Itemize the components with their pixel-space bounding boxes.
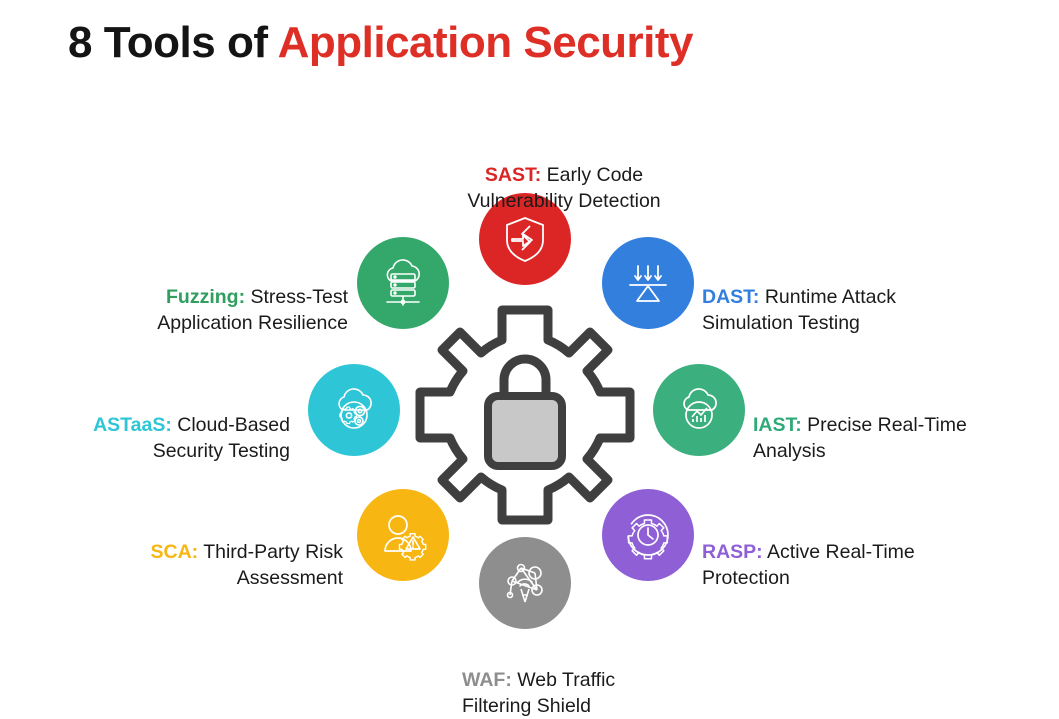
gear-clock-icon <box>622 509 674 561</box>
label-waf-lead: WAF: <box>462 669 512 691</box>
user-gear-warning-icon <box>377 509 429 561</box>
center-gear-lock <box>406 296 644 534</box>
label-sast-lead: SAST: <box>485 164 541 186</box>
label-sca-lead: SCA: <box>150 541 198 563</box>
node-sca[interactable] <box>357 489 449 581</box>
node-iast[interactable] <box>653 364 745 456</box>
label-fuzzing-lead: Fuzzing: <box>166 286 245 308</box>
label-astaas-text: Cloud-Based Security Testing <box>153 414 290 462</box>
application-security-tools-diagram: SAST: Early Code Vulnerability Detection… <box>0 0 1059 703</box>
label-sca: SCA: Third-Party Risk Assessment <box>58 513 343 591</box>
cloud-gears-icon <box>328 384 380 436</box>
label-sast: SAST: Early Code Vulnerability Detection <box>404 136 724 214</box>
load-arrows-triangle-icon <box>623 258 673 308</box>
shield-arrow-icon <box>500 214 550 264</box>
gear-outline-icon <box>406 296 644 534</box>
node-dast[interactable] <box>602 237 694 329</box>
network-antenna-icon <box>499 557 551 609</box>
label-rasp-lead: RASP: <box>702 541 763 563</box>
label-iast: IAST: Precise Real-Time Analysis <box>753 386 1043 464</box>
node-fuzzing[interactable] <box>357 237 449 329</box>
cloud-server-icon <box>377 257 429 309</box>
node-waf[interactable] <box>479 537 571 629</box>
label-astaas: ASTaaS: Cloud-Based Security Testing <box>30 386 290 464</box>
cloud-bar-chart-icon <box>673 384 725 436</box>
label-rasp: RASP: Active Real-Time Protection <box>702 513 992 591</box>
label-astaas-lead: ASTaaS: <box>93 414 172 436</box>
label-iast-lead: IAST: <box>753 414 802 436</box>
node-rasp[interactable] <box>602 489 694 581</box>
label-dast: DAST: Runtime Attack Simulation Testing <box>702 258 1002 336</box>
node-astaas[interactable] <box>308 364 400 456</box>
label-fuzzing: Fuzzing: Stress-Test Application Resilie… <box>78 258 348 336</box>
label-dast-lead: DAST: <box>702 286 759 308</box>
label-waf: WAF: Web Traffic Filtering Shield <box>462 641 762 719</box>
label-sca-text: Third-Party Risk Assessment <box>198 541 343 589</box>
